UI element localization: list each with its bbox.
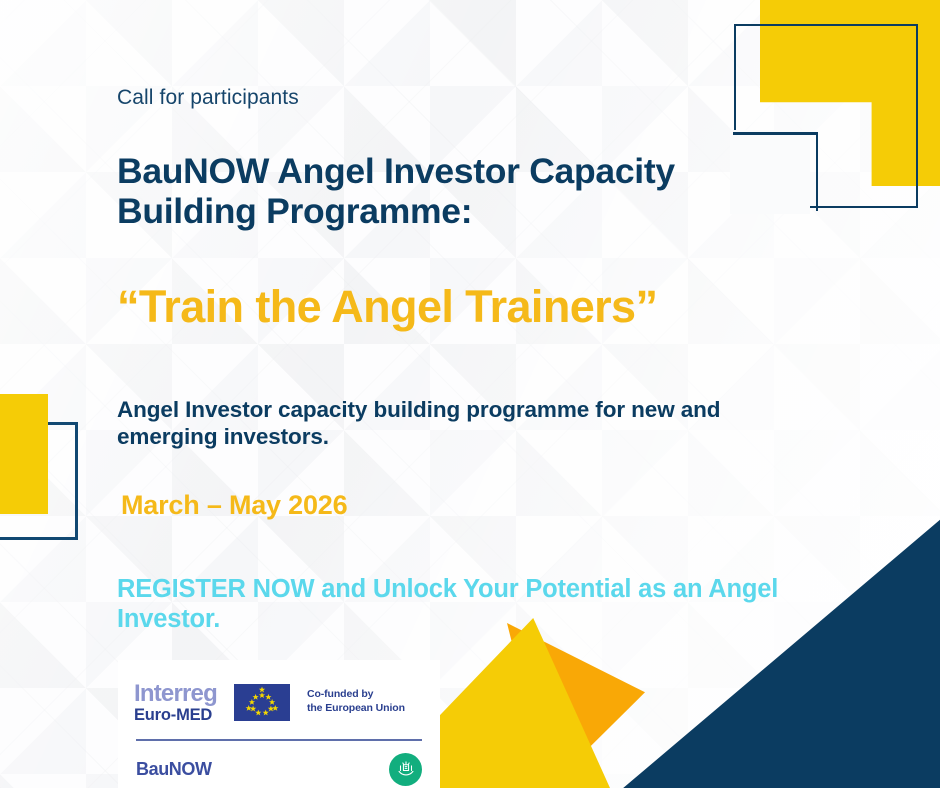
eu-funding-line-2: the European Union [307,702,405,716]
eyebrow-text: Call for participants [117,86,299,110]
promotional-poster: Call for participants BauNOW Angel Inves… [0,0,940,788]
programme-description: Angel Investor capacity building program… [117,396,817,450]
logo-card-divider [136,739,422,741]
interreg-logo: Interreg Euro-MED [134,681,217,724]
call-to-action-text: REGISTER NOW and Unlock Your Potential a… [117,574,797,634]
programme-quote-title: “Train the Angel Trainers” [117,283,837,330]
interreg-wordmark: Interreg [134,682,217,706]
baunow-wordmark: BauNOW [136,759,212,780]
eu-funding-statement: Co-funded by the European Union [307,688,405,715]
hand-holding-building-icon [389,753,422,786]
logo-row-funders: Interreg Euro-MED [134,676,424,728]
eu-flag-icon [234,684,290,721]
left-yellow-block [0,394,48,514]
logo-row-project: BauNOW [134,753,424,786]
interreg-programme-label: Euro-MED [134,707,217,724]
page-title: BauNOW Angel Investor Capacity Building … [117,152,817,232]
programme-dates: March – May 2026 [121,490,347,521]
logo-card: Interreg Euro-MED [118,660,440,788]
eu-funding-line-1: Co-funded by [307,688,405,702]
